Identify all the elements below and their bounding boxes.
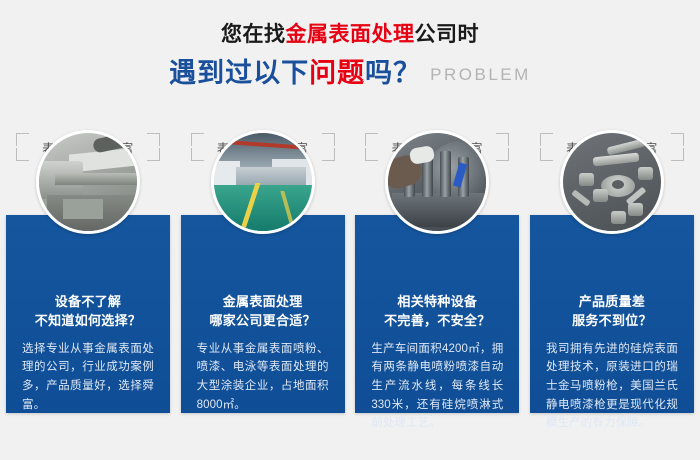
- headline-secondary-highlight: 问题: [309, 58, 365, 88]
- card-title-line2: 哪家公司更合适？: [187, 312, 339, 331]
- problem-card[interactable]: 表面处理找舜富 相关特种设备 不完善，不安全？ 生产车间面积4200㎡，拥有两条…: [355, 130, 519, 164]
- corner-bracket-top-right-icon: [322, 133, 335, 146]
- card-title-line1: 设备不了解: [12, 293, 164, 312]
- fasteners-products-photo: [563, 133, 661, 231]
- corner-bracket-bottom-right-icon: [671, 148, 684, 161]
- corner-bracket-top-right-icon: [671, 133, 684, 146]
- card-body-text: 专业从事金属表面喷粉、喷漆、电泳等表面处理的大型涂装企业，占地面积8000㎡。: [181, 340, 345, 415]
- card-title: 设备不了解 不知道如何选择？: [6, 293, 170, 331]
- card-title: 相关特种设备 不完善，不安全？: [355, 293, 519, 331]
- card-title-line1: 产品质量差: [536, 293, 688, 312]
- corner-bracket-top-right-icon: [147, 133, 160, 146]
- headline-primary-prefix: 您在找: [221, 23, 286, 46]
- problem-card[interactable]: 表面处理找舜富 金属表面处理 哪家公司更合适？ 专业从事金属表面喷粉、喷漆、电泳…: [181, 130, 345, 164]
- headline-secondary: 遇到过以下问题吗？PROBLEM: [0, 57, 700, 89]
- corner-bracket-bottom-left-icon: [540, 148, 553, 161]
- lathe-machining-photo: [39, 133, 137, 231]
- card-title-line2: 不知道如何选择？: [12, 312, 164, 331]
- corner-bracket-top-right-icon: [496, 133, 509, 146]
- card-title-line1: 相关特种设备: [361, 293, 513, 312]
- card-body-text: 生产车间面积4200㎡，拥有两条静电喷粉喷漆自动生产流水线，每条线长330米，还…: [355, 340, 519, 433]
- card-title-line2: 服务不到位？: [536, 312, 688, 331]
- corner-bracket-top-left-icon: [365, 133, 378, 146]
- card-panel: 相关特种设备 不完善，不安全？ 生产车间面积4200㎡，拥有两条静电喷粉喷漆自动…: [355, 215, 519, 413]
- card-panel: 产品质量差 服务不到位？ 我司拥有先进的硅烷表面处理技术，原装进口的瑞士金马喷粉…: [530, 215, 694, 413]
- problem-card[interactable]: 表面处理找舜富 产品质量差 服务不到位？ 我司拥有先进的硅烷表面处理技术，原装进…: [530, 130, 694, 164]
- corner-bracket-bottom-right-icon: [147, 148, 160, 161]
- headline-primary-highlight: 金属表面处理: [286, 23, 415, 46]
- headline-primary: 您在找金属表面处理公司时: [0, 22, 700, 48]
- card-panel: 金属表面处理 哪家公司更合适？ 专业从事金属表面喷粉、喷漆、电泳等表面处理的大型…: [181, 215, 345, 413]
- factory-workshop-photo: [214, 133, 312, 231]
- corner-bracket-bottom-right-icon: [496, 148, 509, 161]
- headline-primary-suffix: 公司时: [415, 23, 480, 46]
- corner-bracket-bottom-left-icon: [191, 148, 204, 161]
- card-panel: 设备不了解 不知道如何选择？ 选择专业从事金属表面处理的公司，行业成功案例多，产…: [6, 215, 170, 413]
- card-body-text: 选择专业从事金属表面处理的公司，行业成功案例多，产品质量好，选择舜富。: [6, 340, 170, 415]
- corner-bracket-bottom-left-icon: [365, 148, 378, 161]
- card-photo: [385, 130, 489, 234]
- corner-bracket-bottom-right-icon: [322, 148, 335, 161]
- special-equipment-photo: [388, 133, 486, 231]
- corner-bracket-top-left-icon: [16, 133, 29, 146]
- card-title: 金属表面处理 哪家公司更合适？: [181, 293, 345, 331]
- corner-bracket-top-left-icon: [191, 133, 204, 146]
- card-body-text: 我司拥有先进的硅烷表面处理技术，原装进口的瑞士金马喷粉枪，美国兰氏静电喷漆枪更是…: [530, 340, 694, 433]
- card-photo: [211, 130, 315, 234]
- problem-cards-row: 表面处理找舜富 设备不了解 不知道如何选择？ 选择专业从事金属表面处理的公司，行…: [0, 130, 700, 164]
- problem-card[interactable]: 表面处理找舜富 设备不了解 不知道如何选择？ 选择专业从事金属表面处理的公司，行…: [6, 130, 170, 164]
- headline-secondary-part2: 吗？: [365, 58, 421, 88]
- corner-bracket-bottom-left-icon: [16, 148, 29, 161]
- headline-secondary-subtitle: PROBLEM: [430, 65, 531, 84]
- card-photo: [36, 130, 140, 234]
- card-title-line1: 金属表面处理: [187, 293, 339, 312]
- corner-bracket-top-left-icon: [540, 133, 553, 146]
- card-photo: [560, 130, 664, 234]
- card-title: 产品质量差 服务不到位？: [530, 293, 694, 331]
- headline-secondary-part1: 遇到过以下: [169, 58, 309, 88]
- page-header: 您在找金属表面处理公司时 遇到过以下问题吗？PROBLEM: [0, 0, 700, 90]
- card-title-line2: 不完善，不安全？: [361, 312, 513, 331]
